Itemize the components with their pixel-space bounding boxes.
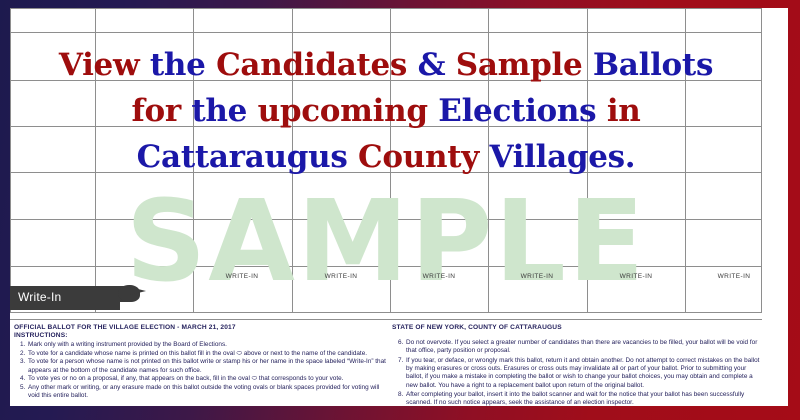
writein-cell-label: WRITE-IN [390,273,488,280]
headline-word: the [150,47,216,83]
instruction-item: 4. To vote yes or no on a proposal, if a… [14,375,388,383]
instruction-number: 7. [392,357,406,390]
writein-cell-label: WRITE-IN [587,273,685,280]
ballot-page: SAMPLE WRITE-IN WRITE-IN WRITE-IN WRITE-… [10,8,788,406]
instruction-number: 2. [14,350,28,358]
instruction-item: 3. To vote for a person whose name is no… [14,358,388,374]
instruction-text: If you tear, or deface, or wrongly mark … [406,357,762,390]
headline-word: View [59,47,150,83]
instruction-number: 3. [14,358,28,374]
headline-line-3: Cattaraugus County Villages. [10,134,762,180]
promo-graphic: SAMPLE WRITE-IN WRITE-IN WRITE-IN WRITE-… [0,0,800,420]
instruction-text: Any other mark or writing, or any erasur… [28,384,388,400]
headline-line-1: View the Candidates & Sample Ballots [10,42,762,88]
headline-word: upcoming [258,93,439,129]
page-title: View the Candidates & Sample Ballots for… [10,42,762,180]
callout-arrow-tip [130,287,146,295]
instructions-left-column: OFFICIAL BALLOT FOR THE VILLAGE ELECTION… [10,320,388,406]
instruction-item: 2. To vote for a candidate whose name is… [14,350,388,358]
headline-word: Cattaraugus [137,139,358,175]
writein-cell-label: WRITE-IN [488,273,586,280]
instruction-item: 1. Mark only with a writing instrument p… [14,341,388,349]
ballot-instructions: OFFICIAL BALLOT FOR THE VILLAGE ELECTION… [10,319,762,406]
instruction-item: 7. If you tear, or deface, or wrongly ma… [392,357,762,390]
instruction-number: 1. [14,341,28,349]
instruction-number: 6. [392,339,406,355]
headline-word: Elections [438,93,607,129]
instruction-text: Do not overvote. If you select a greater… [406,339,762,355]
headline-line-2: for the upcoming Elections in [10,88,762,134]
headline-word: Sample [456,47,593,83]
instruction-text: After completing your ballot, insert it … [406,391,762,406]
instruction-text: To vote for a candidate whose name is pr… [28,350,388,358]
writein-cell-label: WRITE-IN [292,273,390,280]
instruction-number: 8. [392,391,406,406]
instruction-item: 6. Do not overvote. If you select a grea… [392,339,762,355]
state-county-title: STATE OF NEW YORK, COUNTY OF CATTARAUGUS [392,324,762,331]
instruction-number: 4. [14,375,28,383]
writein-cell-label: WRITE-IN [193,273,291,280]
instruction-number: 5. [14,384,28,400]
instruction-text: Mark only with a writing instrument prov… [28,341,388,349]
headline-word: Candidates [216,47,418,83]
callout-label: Write-In [18,290,61,304]
writein-callout-banner: Write-In [10,286,146,310]
headline-word: in [607,93,641,129]
instruction-item: 5. Any other mark or writing, or any era… [14,384,388,400]
instructions-heading: INSTRUCTIONS: [14,332,388,339]
headline-word: County [358,139,489,175]
ballot-grid-region: SAMPLE WRITE-IN WRITE-IN WRITE-IN WRITE-… [10,8,762,313]
headline-word: & [418,47,456,83]
sample-watermark: SAMPLE [10,186,762,298]
instructions-right-column: STATE OF NEW YORK, COUNTY OF CATTARAUGUS… [388,320,762,406]
instruction-text: To vote yes or no on a proposal, if any,… [28,375,388,383]
headline-word: Ballots [593,47,713,83]
writein-cell-label: WRITE-IN [685,273,762,280]
headline-word: Villages. [489,139,635,175]
headline-word: for [131,93,191,129]
headline-word: the [191,93,257,129]
instruction-item: 8. After completing your ballot, insert … [392,391,762,406]
ballot-official-title: OFFICIAL BALLOT FOR THE VILLAGE ELECTION… [14,324,388,331]
instruction-text: To vote for a person whose name is not p… [28,358,388,374]
